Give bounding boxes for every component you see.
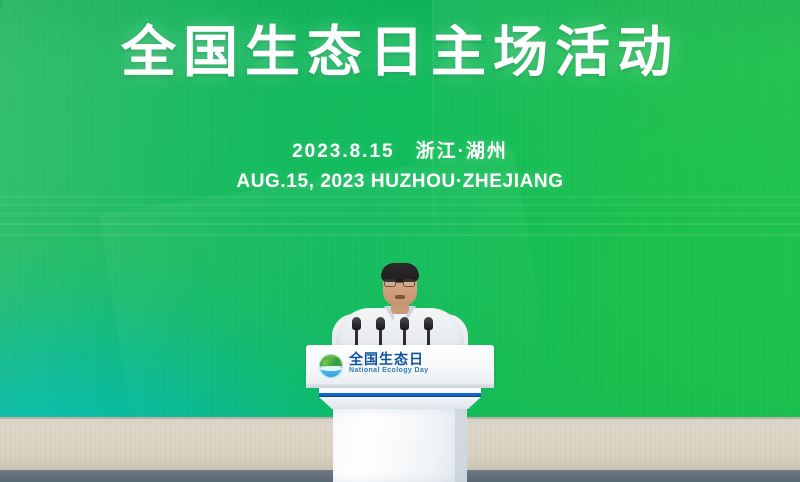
logo-water-wave-shape [320,366,342,371]
podium-column [333,409,467,482]
page-title: 全国生态日主场活动 [0,22,800,82]
eyeglasses-lens-left [384,279,396,287]
national-ecology-day-logo-icon [319,354,343,378]
event-date-location-en: AUG.15, 2023 HUZHOU·ZHEJIANG [0,170,800,194]
eyeglasses-icon [384,279,416,287]
podium-column-shading [455,409,467,482]
speaker-mouth [395,295,405,299]
podium-skirt [319,397,481,409]
microphone-capsule [424,317,433,330]
event-date-location-cn: 2023.8.15 浙江·湖州 [0,140,800,164]
eyeglasses-lens-right [403,279,415,287]
podium-blue-stripe-shadow [319,396,481,397]
podium-sign-title-cn: 全国生态日 [349,352,424,367]
podium: 全国生态日 National Ecology Day [295,345,505,482]
podium-sign-title-en: National Ecology Day [349,367,429,375]
event-photo-scene: 全国生态日主场活动 2023.8.15 浙江·湖州 AUG.15, 2023 H… [0,0,800,482]
microphone-capsule [376,317,385,330]
podium-sign: 全国生态日 National Ecology Day [319,351,485,379]
microphone-capsule [352,317,361,330]
eyeglasses-bridge [396,282,403,283]
microphone-capsule [400,317,409,330]
